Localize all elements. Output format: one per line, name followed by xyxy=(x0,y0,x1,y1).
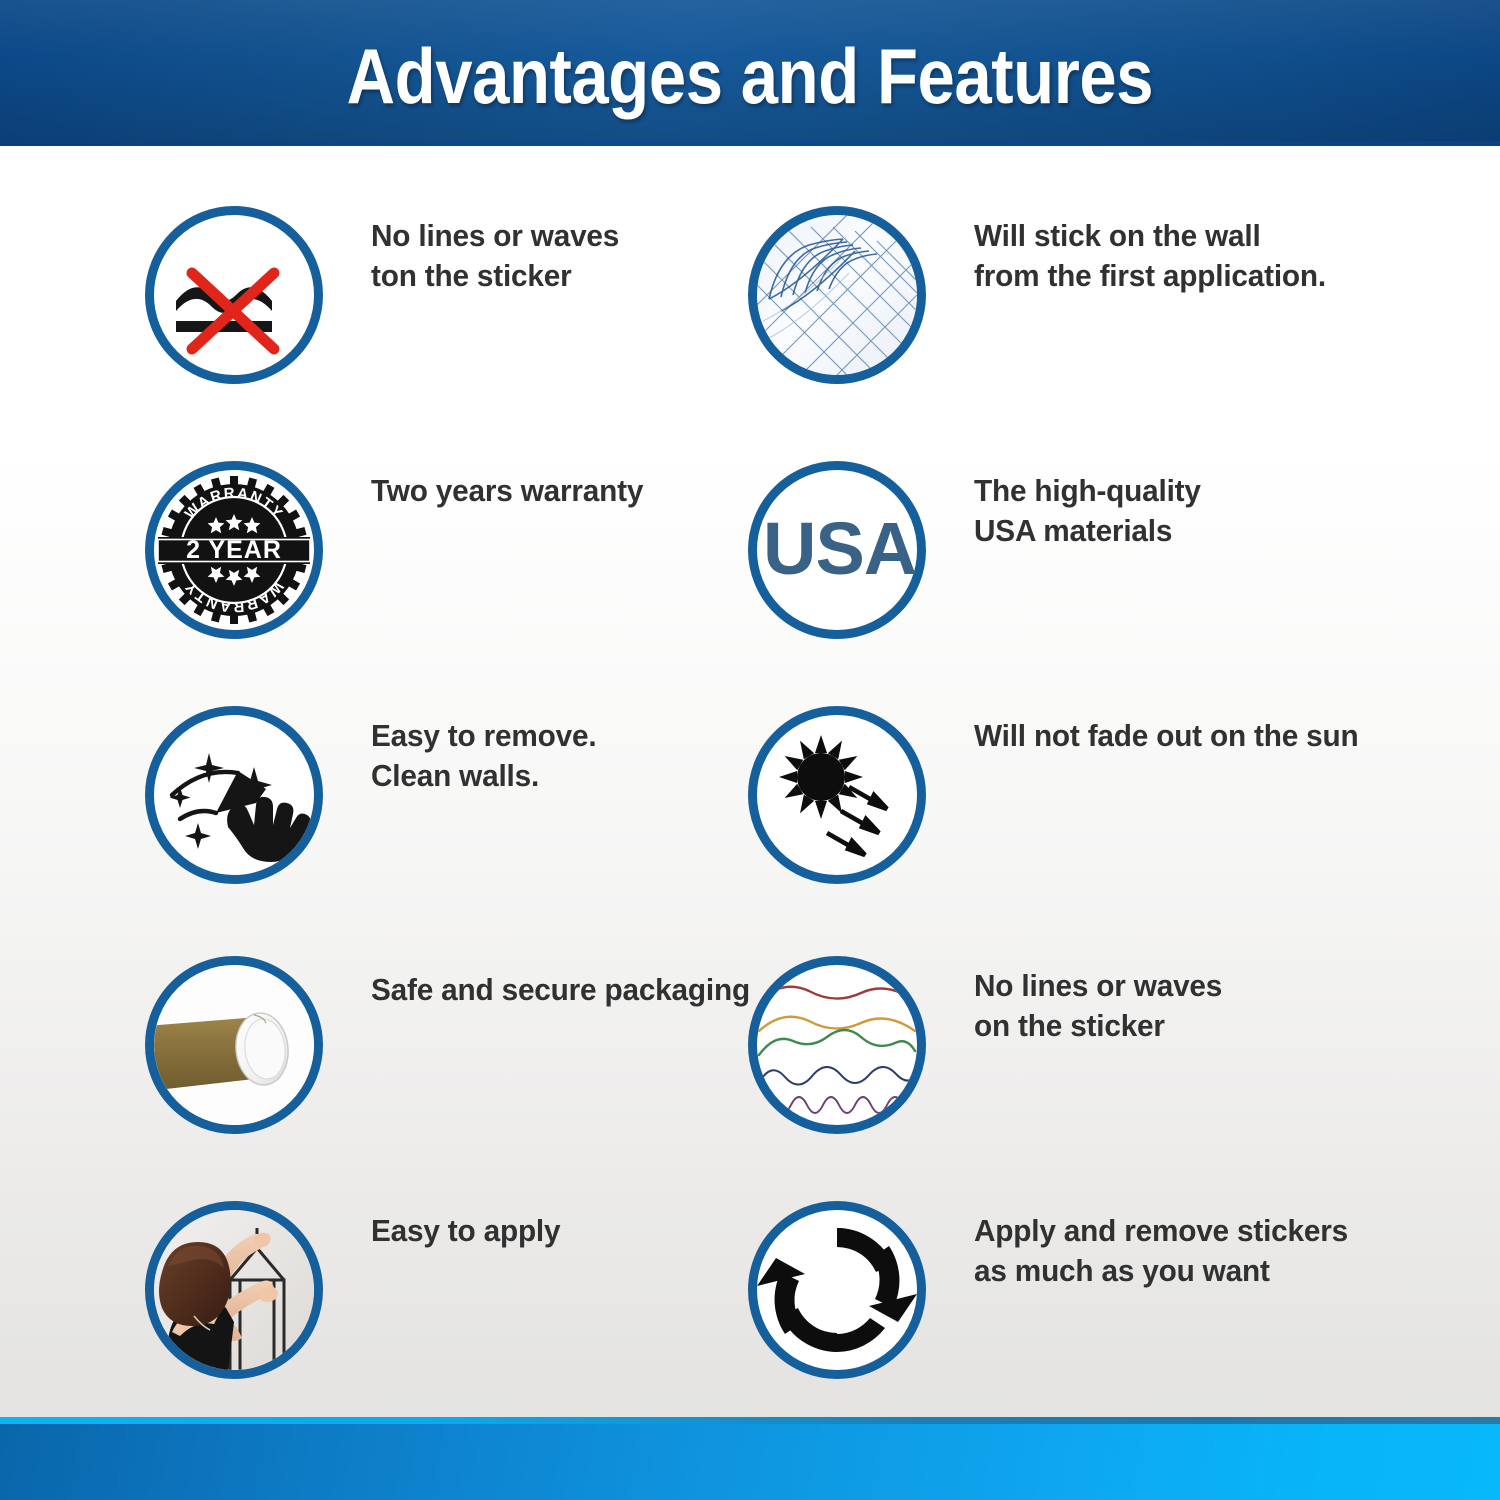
woman-applying-decal-photo xyxy=(145,1201,323,1379)
feature-sticks-first-application: Will stick on the wall from the first ap… xyxy=(748,206,1341,384)
feature-caption: Two years warranty xyxy=(371,471,643,511)
feature-caption: Easy to apply xyxy=(371,1211,560,1251)
feature-caption: Apply and remove stickers as much as you… xyxy=(974,1211,1348,1290)
feature-high-quality-usa-materials: USA The high-quality USA materials xyxy=(748,461,1210,639)
feature-safe-secure-packaging: Safe and secure packaging xyxy=(145,956,766,1134)
color-waves-icon xyxy=(748,956,926,1134)
grid-film-roll-icon xyxy=(748,206,926,384)
feature-easy-to-remove: Easy to remove. Clean walls. xyxy=(145,706,606,884)
page-header: Advantages and Features xyxy=(0,0,1500,146)
features-grid: No lines or waves ton the sticker xyxy=(0,146,1500,1424)
usa-icon: USA xyxy=(748,461,926,639)
feature-will-not-fade: Will not fade out on the sun xyxy=(748,706,1375,884)
shipping-tube-icon xyxy=(145,956,323,1134)
feature-apply-remove-repeatedly: Apply and remove stickers as much as you… xyxy=(748,1201,1364,1379)
feature-caption: The high-quality USA materials xyxy=(974,471,1201,550)
feature-caption: Safe and secure packaging xyxy=(371,970,750,1010)
usa-label: USA xyxy=(763,507,916,590)
feature-no-lines-waves-2: No lines or waves on the sticker xyxy=(748,956,1232,1134)
page-footer xyxy=(0,1424,1500,1500)
footer-divider xyxy=(0,1417,1500,1424)
feature-two-years-warranty: WARRANTY WARRANTY xyxy=(145,461,655,639)
feature-no-lines-waves-1: No lines or waves ton the sticker xyxy=(145,206,629,384)
hand-peel-sparkle-icon xyxy=(145,706,323,884)
feature-caption: Easy to remove. Clean walls. xyxy=(371,716,596,795)
feature-easy-to-apply: Easy to apply xyxy=(145,1201,568,1379)
feature-caption: Will not fade out on the sun xyxy=(974,716,1359,756)
refresh-cycle-arrows-icon xyxy=(748,1201,926,1379)
sun-rays-arrows-icon xyxy=(748,706,926,884)
page-title: Advantages and Features xyxy=(347,37,1154,115)
warranty-badge-icon: WARRANTY WARRANTY xyxy=(145,461,323,639)
feature-caption: No lines or waves on the sticker xyxy=(974,966,1222,1045)
warranty-center-label: 2 YEAR xyxy=(186,536,282,564)
feature-caption: Will stick on the wall from the first ap… xyxy=(974,216,1326,295)
feature-caption: No lines or waves ton the sticker xyxy=(371,216,619,295)
infographic-page: Advantages and Features No lines or wave… xyxy=(0,0,1500,1500)
no-lines-waves-icon xyxy=(145,206,323,384)
